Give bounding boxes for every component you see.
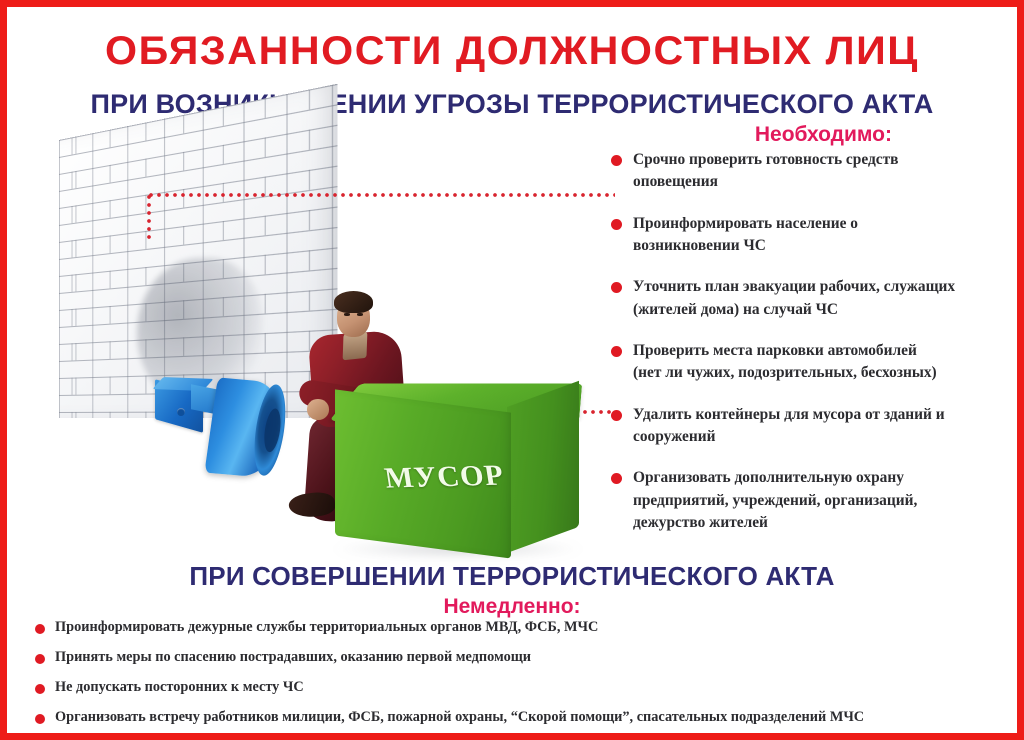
kicker-nemedlenno: Немедленно: — [7, 595, 1017, 619]
speaker-screw — [177, 408, 185, 416]
bullet-dot-icon — [611, 346, 622, 357]
list-item: Срочно проверить готовность средств опов… — [611, 149, 1019, 194]
list-item: Организовать встречу работников милиции,… — [35, 709, 999, 726]
subtitle-attack: ПРИ СОВЕРШЕНИИ ТЕРРОРИСТИЧЕСКОГО АКТА — [7, 563, 1017, 589]
list-item-text: Проинформировать дежурные службы террито… — [55, 619, 598, 636]
list-item: Проверить места парковки автомобилей (не… — [611, 340, 1019, 385]
speaker-horn-cone — [204, 377, 287, 478]
list-item: Удалить контейнеры для мусора от зданий … — [611, 404, 1019, 449]
list-item: Не допускать посторонних к месту ЧС — [35, 679, 999, 696]
bullet-dot-icon — [611, 155, 622, 166]
attack-action-list: Проинформировать дежурные службы террито… — [35, 619, 999, 740]
list-item: Организовать дополнительную охрану предп… — [611, 467, 1019, 534]
bullet-dot-icon — [611, 219, 622, 230]
man-hair — [334, 291, 373, 313]
container-side-panel — [507, 381, 579, 553]
bullet-dot-icon — [35, 654, 45, 664]
man-eye-left — [344, 313, 350, 316]
list-item-text: Принять меры по спасению пострадавших, о… — [55, 649, 531, 666]
list-item-text: Организовать дополнительную охрану предп… — [633, 467, 917, 534]
bullet-dot-icon — [611, 282, 622, 293]
bullet-dot-icon — [35, 714, 45, 724]
bullet-dot-icon — [35, 684, 45, 694]
list-item-text: Проинформировать население о возникновен… — [633, 213, 858, 258]
list-item-text: Организовать встречу работников милиции,… — [55, 709, 864, 726]
container-label: МУСОР — [382, 459, 506, 495]
subtitle-threat: ПРИ ВОЗНИКНОВЕНИИ УГРОЗЫ ТЕРРОРИСТИЧЕСКО… — [7, 91, 1017, 118]
list-item-text: Проверить места парковки автомобилей (не… — [633, 340, 937, 385]
bullet-dot-icon — [611, 410, 622, 421]
man-hand-left — [307, 399, 329, 420]
bullet-dot-icon — [35, 624, 45, 634]
man-eye-right — [357, 313, 363, 316]
list-item-text: Не допускать посторонних к месту ЧС — [55, 679, 304, 696]
dumpster-illustration: МУСОР — [293, 289, 593, 557]
list-item-text: Удалить контейнеры для мусора от зданий … — [633, 404, 945, 449]
bullet-dot-icon — [611, 473, 622, 484]
list-item-text: Срочно проверить готовность средств опов… — [633, 149, 898, 194]
brick-wall-illustration — [59, 140, 301, 418]
list-item: Проинформировать дежурные службы террито… — [35, 619, 999, 636]
page-title: ОБЯЗАННОСТИ ДОЛЖНОСТНЫХ ЛИЦ — [0, 31, 1024, 71]
garbage-container: МУСОР — [329, 349, 581, 555]
connector-dotted-vertical — [147, 193, 151, 243]
list-item: Проинформировать население о возникновен… — [611, 213, 1019, 258]
poster-root: ОБЯЗАННОСТИ ДОЛЖНОСТНЫХ ЛИЦ ПРИ ВОЗНИКНО… — [0, 0, 1024, 740]
threat-action-list: Срочно проверить готовность средств опов… — [611, 149, 1019, 553]
speaker-horn-mouth — [250, 383, 291, 477]
connector-dotted-speaker — [147, 193, 615, 197]
list-item-text: Уточнить план эвакуации рабочих, служащи… — [633, 276, 955, 321]
loudspeaker-icon — [155, 376, 280, 478]
list-item: Уточнить план эвакуации рабочих, служащи… — [611, 276, 1019, 321]
speaker-horn-inner — [262, 408, 283, 453]
list-item: Принять меры по спасению пострадавших, о… — [35, 649, 999, 666]
